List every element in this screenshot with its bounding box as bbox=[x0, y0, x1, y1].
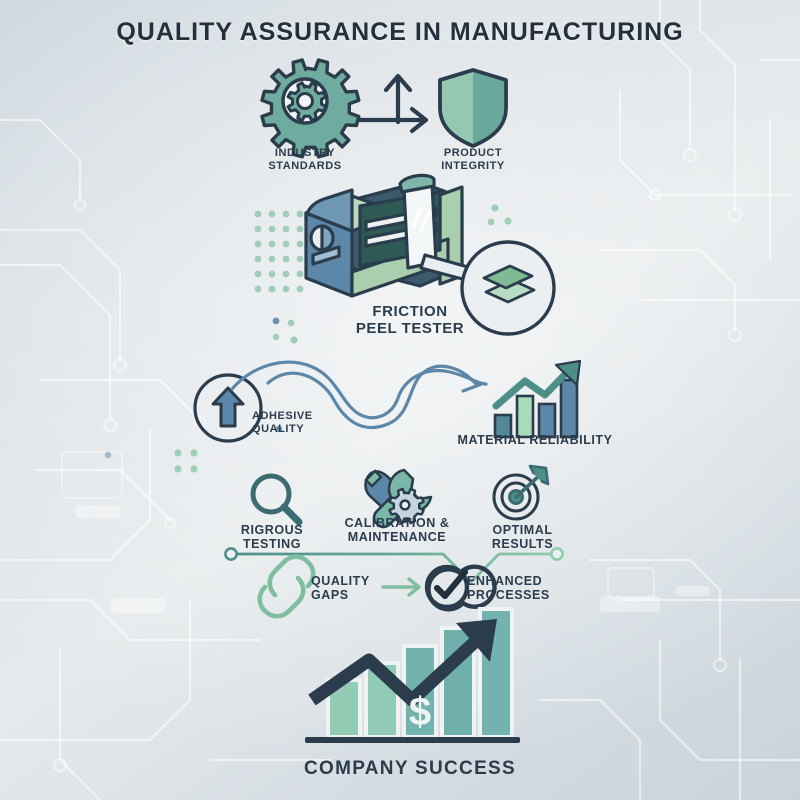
infographic-canvas: QUALITY ASSURANCE IN MANUFACTURING INDUS… bbox=[0, 0, 800, 800]
dollar-sign: $ bbox=[409, 690, 431, 734]
company-success-label: COMPANY SUCCESS bbox=[280, 758, 540, 780]
success-bar-chart-icon: $ bbox=[0, 0, 800, 800]
